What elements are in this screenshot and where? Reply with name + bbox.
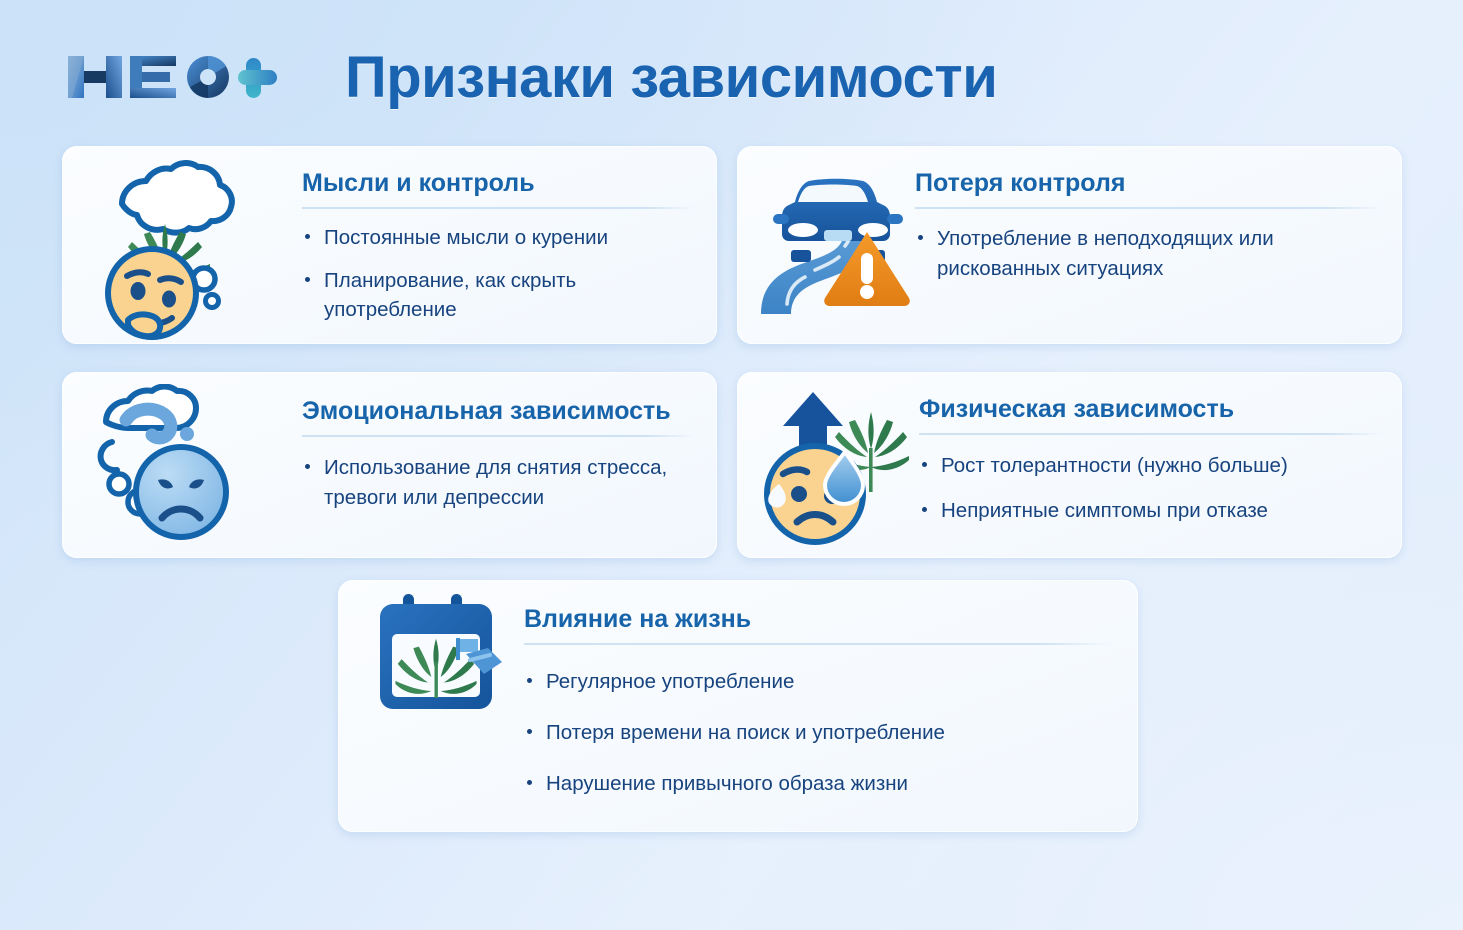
- card-title: Физическая зависимость: [919, 396, 1384, 424]
- bullet-list: Употребление в неподходящих или рискован…: [915, 224, 1384, 285]
- card-emotional-dependence[interactable]: Эмоциональная зависимость Использование …: [62, 372, 717, 558]
- card-thoughts-control[interactable]: Мысли и контроль Постоянные мысли о куре…: [62, 146, 717, 344]
- card-title: Мысли и контроль: [302, 170, 695, 198]
- title-divider: [524, 643, 1112, 645]
- neo-plus-logo: [62, 46, 284, 108]
- bullet-list: Постоянные мысли о курении Планирование,…: [302, 223, 695, 324]
- card-body: Физическая зависимость Рост толерантност…: [919, 396, 1384, 525]
- sad-blue-face-with-thought-bubble-icon: [84, 384, 246, 549]
- worried-face-with-sweat-arrow-and-cannabis-leaf-icon: [753, 378, 923, 550]
- card-body: Влияние на жизнь Регулярное употребление…: [524, 606, 1112, 798]
- list-item: Неприятные симптомы при отказе: [919, 496, 1384, 525]
- title-divider: [919, 433, 1384, 435]
- page-title: Признаки зависимости: [345, 44, 997, 111]
- card-body: Мысли и контроль Постоянные мысли о куре…: [302, 170, 695, 324]
- list-item: Потеря времени на поиск и употребление: [524, 718, 1112, 747]
- infographic-stage: Признаки зависимости: [0, 0, 1463, 930]
- card-title: Потеря контроля: [915, 170, 1384, 198]
- bullet-list: Рост толерантности (нужно больше) Неприя…: [919, 451, 1384, 525]
- bullet-list: Использование для снятия стресса, тревог…: [302, 453, 695, 514]
- thinking-face-with-cannabis-thought-bubble-icon: [84, 160, 246, 340]
- list-item: Использование для снятия стресса, тревог…: [302, 453, 695, 514]
- card-body: Эмоциональная зависимость Использование …: [302, 398, 695, 513]
- title-divider: [302, 435, 695, 437]
- list-item: Рост толерантности (нужно больше): [919, 451, 1384, 480]
- list-item: Планирование, как скрыть употребление: [302, 266, 695, 324]
- card-physical-dependence[interactable]: Физическая зависимость Рост толерантност…: [737, 372, 1402, 558]
- card-title: Эмоциональная зависимость: [302, 398, 695, 426]
- title-divider: [915, 207, 1384, 209]
- list-item: Нарушение привычного образа жизни: [524, 769, 1112, 798]
- card-loss-of-control[interactable]: Потеря контроля Употребление в неподходя…: [737, 146, 1402, 344]
- bullet-list: Регулярное употребление Потеря времени н…: [524, 667, 1112, 798]
- list-item: Регулярное употребление: [524, 667, 1112, 696]
- calendar-with-cannabis-leaf-icon: [370, 590, 520, 720]
- card-body: Потеря контроля Употребление в неподходя…: [915, 170, 1384, 284]
- card-title: Влияние на жизнь: [524, 606, 1112, 634]
- header: Признаки зависимости: [0, 0, 1463, 140]
- car-on-road-with-warning-triangle-icon: [749, 154, 927, 319]
- list-item: Постоянные мысли о курении: [302, 223, 695, 252]
- list-item: Употребление в неподходящих или рискован…: [915, 224, 1384, 285]
- title-divider: [302, 207, 695, 209]
- card-life-impact[interactable]: Влияние на жизнь Регулярное употребление…: [338, 580, 1138, 832]
